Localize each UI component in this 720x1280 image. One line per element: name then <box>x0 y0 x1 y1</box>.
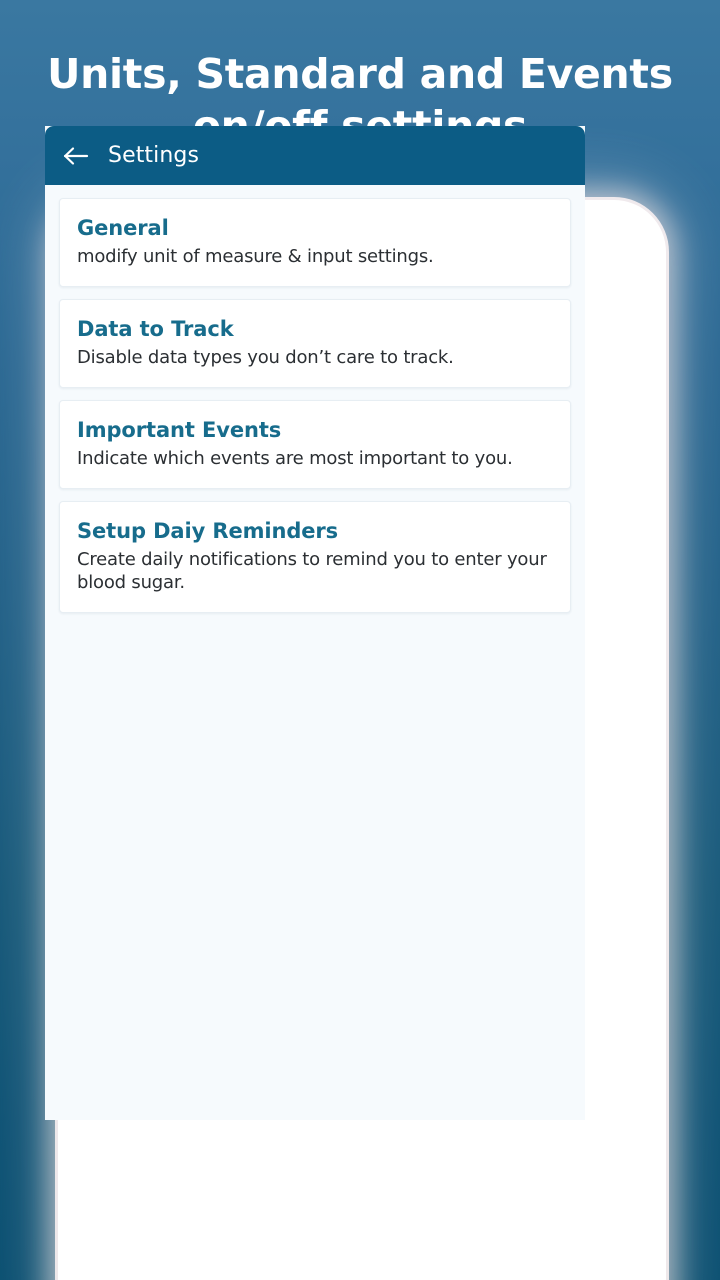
headline-line-1: Units, Standard and Events <box>47 50 673 98</box>
app-bar-title: Settings <box>108 143 199 168</box>
settings-item-subtitle: Disable data types you don’t care to tra… <box>77 346 553 369</box>
phone-screen: Settings General modify unit of measure … <box>45 126 585 1120</box>
settings-item-subtitle: modify unit of measure & input settings. <box>77 245 553 268</box>
settings-item-subtitle: Create daily notifications to remind you… <box>77 548 553 594</box>
arrow-left-icon[interactable] <box>61 141 91 171</box>
settings-item-data-to-track[interactable]: Data to Track Disable data types you don… <box>59 299 571 388</box>
settings-item-setup-daily-reminders[interactable]: Setup Daiy Reminders Create daily notifi… <box>59 501 571 613</box>
settings-item-title: Data to Track <box>77 317 553 342</box>
settings-item-title: Important Events <box>77 418 553 443</box>
settings-item-subtitle: Indicate which events are most important… <box>77 447 553 470</box>
promo-banner: Units, Standard and Events on/off settin… <box>0 0 720 1280</box>
settings-item-general[interactable]: General modify unit of measure & input s… <box>59 198 571 287</box>
settings-item-title: Setup Daiy Reminders <box>77 519 553 544</box>
settings-list: General modify unit of measure & input s… <box>45 185 585 613</box>
settings-item-title: General <box>77 216 553 241</box>
app-bar: Settings <box>45 126 585 185</box>
settings-item-important-events[interactable]: Important Events Indicate which events a… <box>59 400 571 489</box>
